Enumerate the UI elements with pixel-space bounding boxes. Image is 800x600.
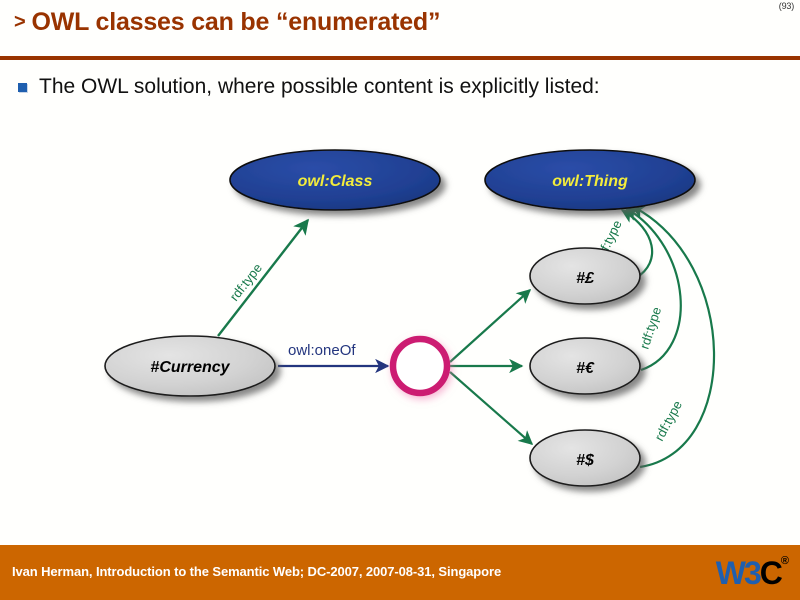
edge-label-owloneof: owl:oneOf <box>288 342 356 359</box>
title-text: OWL classes can be “enumerated” <box>31 8 440 36</box>
bullet-item-label: The OWL solution, where possible content… <box>39 75 600 99</box>
edge-blanknode-to-pound <box>450 290 530 362</box>
node-label-dollar: #$ <box>576 452 595 469</box>
w3c-logo: W3C® <box>716 555 790 591</box>
title-caret-marker: > <box>14 11 25 33</box>
node-label-pound: #£ <box>576 270 595 287</box>
bullet-list-item: The OWL solution, where possible content… <box>18 70 788 104</box>
node-label-owl-thing: owl:Thing <box>552 173 628 190</box>
node-blank-oneof-ring[interactable] <box>393 339 447 393</box>
square-bullet-icon <box>18 83 27 92</box>
edge-line <box>450 290 530 362</box>
node-owl-class[interactable]: owl:Class <box>230 150 440 210</box>
edge-line <box>450 372 532 444</box>
slide-footer: Ivan Herman, Introduction to the Semanti… <box>0 545 800 600</box>
edge-line <box>218 220 308 336</box>
node-owl-thing[interactable]: owl:Thing <box>485 150 695 210</box>
edge-currency-rdftype-owlclass: rdf:type <box>218 220 308 336</box>
slide-header: (93) >OWL classes can be “enumerated” <box>0 0 800 62</box>
registered-trademark-icon: ® <box>781 555 789 567</box>
w3c-logo-c: C <box>760 557 782 589</box>
node-dollar[interactable]: #$ <box>530 430 640 486</box>
edge-label-dollar-rdftype: rdf:type <box>651 398 685 443</box>
node-label-owl-class: owl:Class <box>298 173 373 190</box>
page-number: (93) <box>779 1 794 11</box>
node-pound[interactable]: #£ <box>530 248 640 304</box>
node-label-euro: #€ <box>576 360 595 377</box>
edge-currency-owloneof-blanknode: owl:oneOf <box>278 342 388 366</box>
node-label-currency: #Currency <box>150 359 230 376</box>
title-divider <box>0 56 800 60</box>
w3c-logo-w3: W3 <box>716 557 760 589</box>
blank-node-circle <box>393 339 447 393</box>
node-euro[interactable]: #€ <box>530 338 640 394</box>
footer-credit-text: Ivan Herman, Introduction to the Semanti… <box>12 564 501 579</box>
edge-label-euro-rdftype: rdf:type <box>637 305 665 351</box>
node-currency[interactable]: #Currency <box>105 336 275 396</box>
page-title: >OWL classes can be “enumerated” <box>14 8 440 37</box>
rdf-graph-diagram: owl:Class --> rdf:type blank node ring -… <box>0 112 800 532</box>
edge-blanknode-to-dollar <box>450 372 532 444</box>
